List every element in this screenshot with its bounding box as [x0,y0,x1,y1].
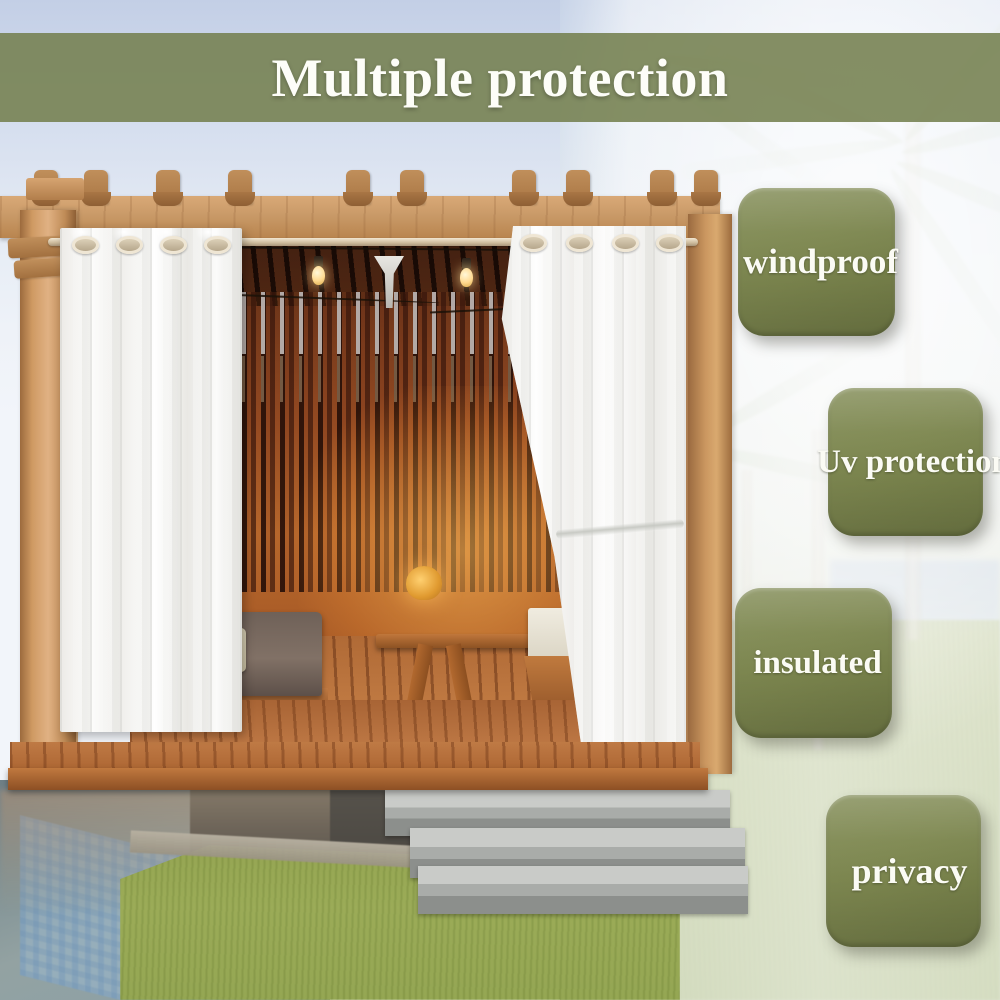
pergola-rafter [694,170,718,204]
curtain-grommet [612,234,639,252]
stone-step [418,866,748,914]
pergola-rafter [566,170,590,204]
header-banner: Multiple protection [0,33,1000,122]
table-lamp [406,566,442,600]
page-title: Multiple protection [272,47,729,109]
feature-badge-privacy[interactable]: privacy [826,795,981,947]
light-bulb [460,268,473,287]
curtain-grommet [204,236,231,254]
curtain-grommet [160,236,187,254]
feature-badge-insulated[interactable]: insulated [735,588,892,738]
curtain-grommet [116,236,143,254]
feature-badge-label: Uv protection [817,444,1000,481]
curtain-grommet [566,234,593,252]
pergola-rafter [84,170,108,204]
curtain-grommet [656,234,683,252]
feature-badge-label: privacy [852,850,968,892]
feature-badge-uv-protection[interactable]: Uv protection [828,388,983,536]
post-cap [26,178,84,200]
product-feature-image: Multiple protection windproof Uv protect… [0,0,1000,1000]
light-bulb [312,266,325,285]
pergola-post-right [688,214,732,774]
feature-badge-label: insulated [753,645,881,682]
pergola-rafter [156,170,180,204]
curtain-grommet [72,236,99,254]
curtain-left [60,228,242,732]
pergola-rafter [512,170,536,204]
feature-badge-label: windproof [743,242,898,282]
pergola-rafter [346,170,370,204]
feature-badge-windproof[interactable]: windproof [738,188,895,336]
curtain-grommet [520,234,547,252]
pergola-rafter [400,170,424,204]
deck-fascia [8,768,708,790]
pergola-rafter [228,170,252,204]
pergola-rafter [650,170,674,204]
